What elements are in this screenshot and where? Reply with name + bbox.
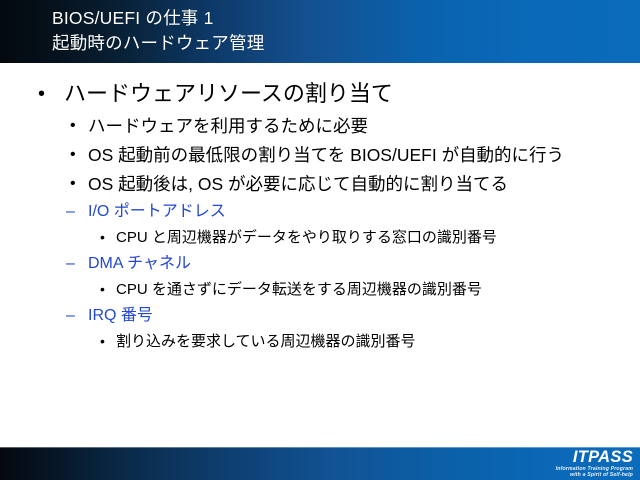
bullet-item: – I/O ポートアドレス: [0, 201, 640, 223]
bullet-item: • 割り込みを要求している周辺機器の識別番号: [0, 331, 640, 352]
bullet-marker-icon: •: [100, 331, 105, 352]
slide: BIOS/UEFI の仕事 1 起動時のハードウェア管理 • ハードウェアリソー…: [0, 0, 640, 480]
bullet-item: • OS 起動後は, OS が必要に応じて自動的に割り当てる: [0, 172, 640, 196]
bullet-dash-icon: –: [66, 305, 75, 327]
bullet-item: • ハードウェアリソースの割り当て: [0, 79, 640, 109]
bullet-text: CPU を通さずにデータ転送をする周辺機器の識別番号: [116, 279, 584, 300]
bullet-dash-icon: –: [66, 201, 75, 223]
bullet-text: 割り込みを要求している周辺機器の識別番号: [116, 331, 584, 352]
bullet-item: • ハードウェアを利用するために必要: [0, 114, 640, 138]
slide-footer-bar: ITPASS Information Training Program with…: [0, 447, 640, 480]
bullet-marker-icon: •: [70, 172, 76, 196]
bullet-item: • CPU と周辺機器がデータをやり取りする窓口の識別番号: [0, 227, 640, 248]
bullet-item: • CPU を通さずにデータ転送をする周辺機器の識別番号: [0, 279, 640, 300]
bullet-item: – IRQ 番号: [0, 305, 640, 327]
footer-divider: [0, 447, 640, 448]
bullet-marker-icon: •: [100, 227, 105, 248]
bullet-text: OS 起動後は, OS が必要に応じて自動的に割り当てる: [88, 172, 606, 196]
bullet-text: I/O ポートアドレス: [88, 201, 610, 223]
bullet-marker-icon: •: [100, 279, 105, 300]
page-title-line-2: 起動時のハードウェア管理: [52, 31, 264, 56]
itpass-logo-tagline-line-2: with a Spirit of Self-help: [556, 472, 633, 478]
itpass-logo: ITPASS Information Training Program with…: [556, 449, 633, 478]
bullet-marker-icon: •: [70, 114, 76, 138]
page-title: BIOS/UEFI の仕事 1 起動時のハードウェア管理: [52, 6, 264, 56]
bullet-marker-icon: •: [38, 79, 45, 109]
bullet-text: DMA チャネル: [88, 253, 610, 275]
bullet-marker-icon: •: [70, 143, 76, 167]
bullet-item: – DMA チャネル: [0, 253, 640, 275]
slide-content: • ハードウェアリソースの割り当て • ハードウェアを利用するために必要 • O…: [0, 66, 640, 352]
bullet-text: IRQ 番号: [88, 305, 610, 327]
slide-title-bar: BIOS/UEFI の仕事 1 起動時のハードウェア管理: [0, 0, 640, 63]
page-title-line-1: BIOS/UEFI の仕事 1: [52, 6, 264, 31]
itpass-logo-wordmark: ITPASS: [556, 449, 633, 466]
bullet-text: OS 起動前の最低限の割り当てを BIOS/UEFI が自動的に行う: [88, 143, 606, 167]
bullet-text: ハードウェアリソースの割り当て: [64, 79, 640, 109]
bullet-item: • OS 起動前の最低限の割り当てを BIOS/UEFI が自動的に行う: [0, 143, 640, 167]
bullet-text: ハードウェアを利用するために必要: [88, 114, 606, 138]
bullet-text: CPU と周辺機器がデータをやり取りする窓口の識別番号: [116, 227, 584, 248]
bullet-dash-icon: –: [66, 253, 75, 275]
